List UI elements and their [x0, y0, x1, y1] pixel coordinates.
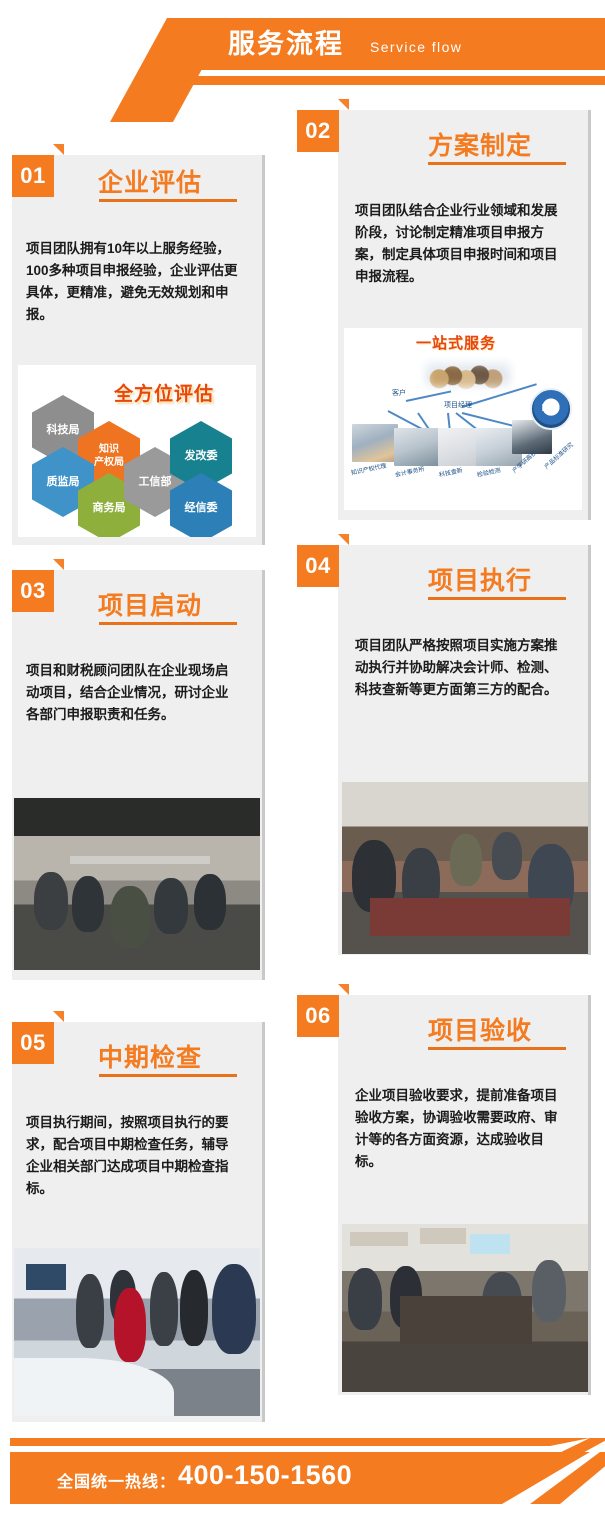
card-02-title: 方案制定: [428, 126, 532, 162]
card-04-title-rule: [428, 597, 566, 600]
one-stop-title: 一站式服务: [416, 332, 496, 353]
card-02-title-rule: [428, 162, 566, 165]
one-stop-leaf-label-1: 知识产权代理: [350, 461, 387, 477]
card-01-ribbon-tail: [53, 144, 64, 155]
card-04-body: 项目团队严格按照项目实施方案推动执行并协助解决会计师、检测、科技查新等更方面第三…: [355, 635, 570, 701]
card-06-ribbon-tail: [338, 984, 349, 995]
card-01-body: 项目团队拥有10年以上服务经验，100多种项目申报经验，企业评估更具体，更精准，…: [26, 238, 241, 326]
one-stop-client-label: 客户: [392, 388, 406, 398]
card-04-number-badge: 04: [297, 545, 339, 587]
page-title: 服务流程: [228, 26, 344, 62]
workshop-photo: [342, 782, 588, 954]
card-04-ribbon-tail: [338, 534, 349, 545]
card-03-number-badge: 03: [12, 570, 54, 612]
header-bar-accent-shape: [150, 76, 605, 85]
card-02-body: 项目团队结合企业行业领域和发展阶段，讨论制定精准项目申报方案，制定具体项目申报时…: [355, 200, 570, 288]
page-subtitle: Service flow: [370, 36, 462, 58]
page-footer: 全国统一热线： 400-150-1560: [0, 1410, 605, 1538]
one-stop-hero-photo: [420, 356, 516, 394]
one-stop-diagram: 一站式服务 客户 项目经理 知识产权代理 会计事务所 科技查新 检验检测 产学研…: [344, 328, 582, 510]
one-stop-leaf-label-3: 科技查新: [438, 465, 463, 479]
card-05-body: 项目执行期间，按照项目执行的要求，配合项目中期检查任务，辅导企业相关部门达成项目…: [26, 1112, 241, 1200]
card-03-title-rule: [99, 622, 237, 625]
iso-seal-icon: [530, 388, 572, 430]
card-05-title: 中期检查: [98, 1038, 202, 1074]
card-06-title: 项目验收: [428, 1011, 532, 1047]
card-03-body: 项目和财税顾问团队在企业现场启动项目，结合企业情况，研讨企业各部门申报职责和任务…: [26, 660, 241, 726]
card-05-ribbon-tail: [53, 1011, 64, 1022]
boardroom-photo: [342, 1224, 588, 1392]
card-01-number-badge: 01: [12, 155, 54, 197]
card-02-number-badge: 02: [297, 110, 339, 152]
card-05-title-rule: [99, 1074, 237, 1077]
card-01-title-rule: [99, 199, 237, 202]
hotline-number[interactable]: 400-150-1560: [178, 1460, 352, 1491]
card-03-title: 项目启动: [98, 586, 202, 622]
card-03-ribbon-tail: [53, 559, 64, 570]
one-stop-leaf-photo-2: [394, 428, 440, 466]
one-stop-center-label: 项目经理: [444, 400, 472, 410]
showroom-photo: [14, 1248, 260, 1416]
meeting-room-photo: [14, 798, 260, 970]
one-stop-leaf-label-4: 检验检测: [476, 465, 501, 479]
hex-diagram: 全方位评估 科技局 知识 产权局 质监局 商务局 工信部 发改委 经信委: [18, 365, 256, 537]
one-stop-leaf-photo-1: [352, 424, 398, 462]
footer-accent-line: [10, 1438, 590, 1446]
card-06-body: 企业项目验收要求，提前准备项目验收方案，协调验收需要政府、审计等的各方面资源，达…: [355, 1085, 570, 1173]
card-04-title: 项目执行: [428, 561, 532, 597]
card-06-number-badge: 06: [297, 995, 339, 1037]
hotline-label: 全国统一热线：: [57, 1468, 176, 1492]
one-stop-leaf-label-2: 会计事务所: [394, 464, 425, 479]
card-05-number-badge: 05: [12, 1022, 54, 1064]
page-header: 服务流程 Service flow: [0, 0, 605, 110]
card-06-title-rule: [428, 1047, 566, 1050]
card-01-title: 企业评估: [98, 163, 202, 199]
hex-diagram-title: 全方位评估: [114, 379, 214, 406]
